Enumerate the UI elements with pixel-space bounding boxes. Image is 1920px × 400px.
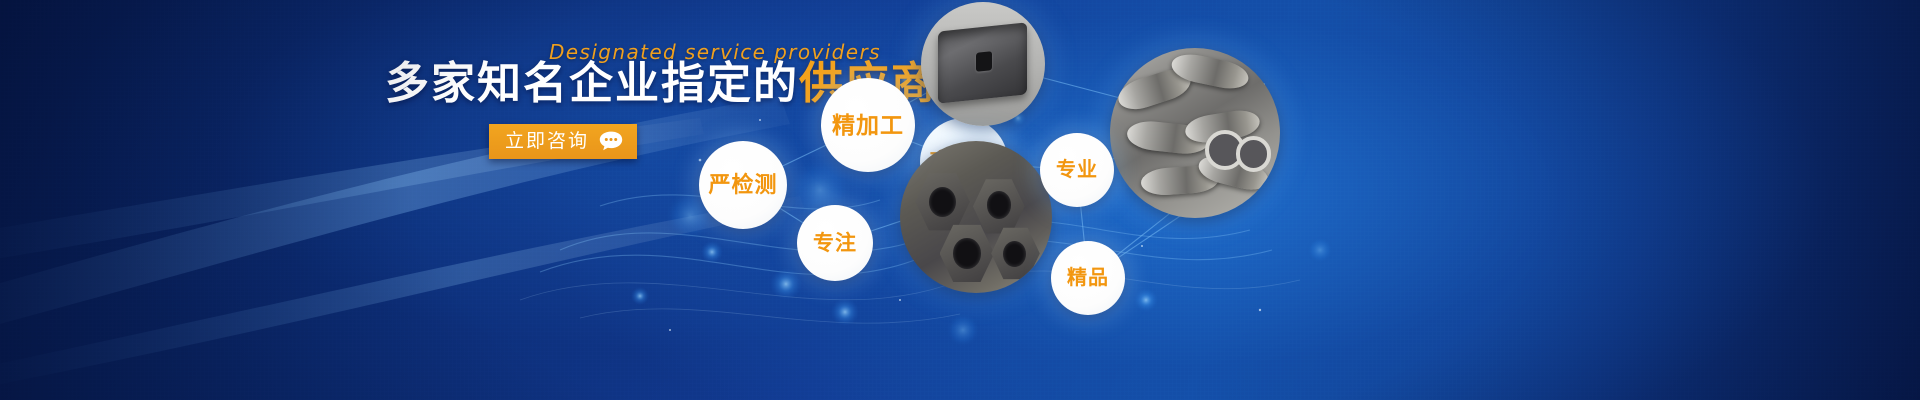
badge-label: 专业 [1056, 160, 1098, 180]
product-photo-plate [921, 2, 1045, 126]
headline-primary: 多家知名企业指定的 [385, 59, 799, 108]
consult-now-button[interactable]: 立即咨询 [489, 124, 637, 159]
badge-label: 精品 [1067, 268, 1109, 288]
plate-hole [976, 51, 992, 71]
badge-label: 专注 [813, 233, 857, 254]
promo-banner: Designated service providers 多家知名企业指定的供应… [0, 0, 1920, 400]
badge-jingpin[interactable]: 精品 [1051, 241, 1125, 315]
product-photo-sockets [900, 141, 1052, 293]
chat-bubble-icon [599, 131, 623, 151]
badge-jingjiagong[interactable]: 精加工 [821, 78, 915, 172]
product-photo-pipes [1110, 48, 1280, 218]
badge-zhuanye[interactable]: 专业 [1040, 133, 1114, 207]
badge-label: 严检测 [708, 174, 777, 196]
badge-yanjiance[interactable]: 严检测 [699, 141, 787, 229]
badge-zhuanzhu[interactable]: 专注 [797, 205, 873, 281]
consult-now-label: 立即咨询 [505, 132, 589, 151]
badge-label: 精加工 [832, 114, 904, 137]
